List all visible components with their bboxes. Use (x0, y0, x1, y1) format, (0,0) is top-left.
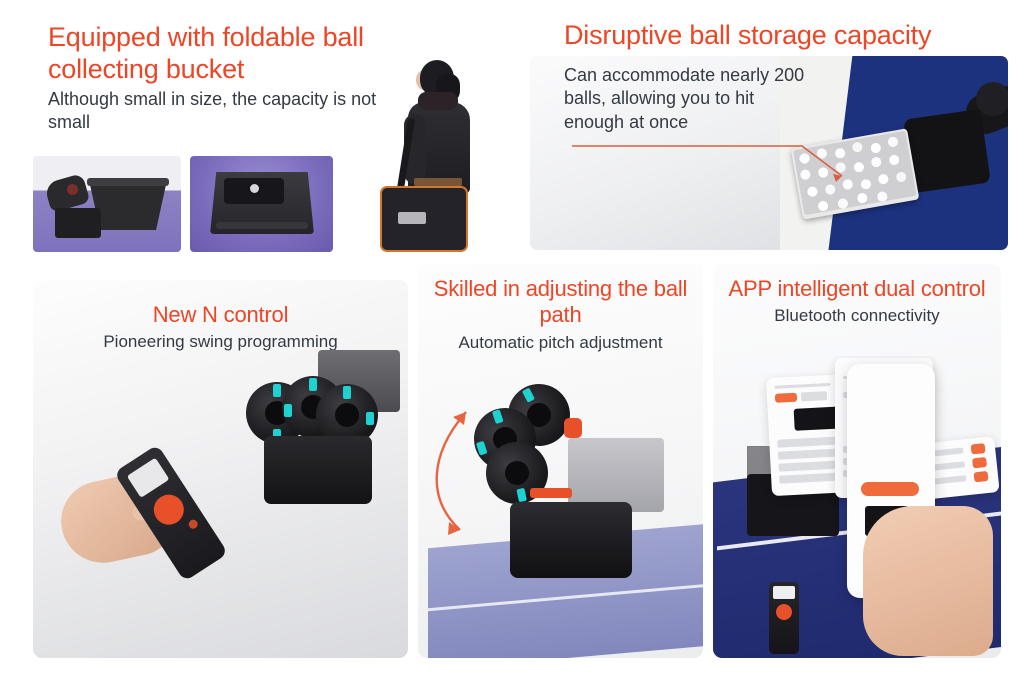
ballpath-heading: Skilled in adjusting the ball path (418, 276, 703, 329)
foldable-photo-strip (33, 156, 333, 252)
ball-hopper-photo (780, 56, 1008, 250)
app-header: APP intelligent dual control Bluetooth c… (713, 276, 1001, 327)
ncontrol-header: New N control Pioneering swing programmi… (33, 302, 408, 353)
hand-using-phone (863, 506, 993, 656)
foldable-heading: Equipped with foldable ball collecting b… (48, 22, 408, 86)
storage-heading: Disruptive ball storage capacity (564, 20, 994, 52)
app-control-photo (713, 356, 1001, 658)
panel-app-control: APP intelligent dual control Bluetooth c… (713, 264, 1001, 658)
ballpath-header: Skilled in adjusting the ball path Autom… (418, 276, 703, 354)
person-carrying-bag-photo (358, 56, 508, 252)
panel-ball-storage: Disruptive ball storage capacity Can acc… (512, 0, 1024, 262)
panel-foldable-bucket: Equipped with foldable ball collecting b… (0, 0, 512, 262)
app-heading: APP intelligent dual control (713, 276, 1001, 302)
ncontrol-heading: New N control (33, 302, 408, 328)
folded-bag-photo (190, 156, 333, 252)
panel-new-n-control: New N control Pioneering swing programmi… (33, 280, 408, 658)
pitch-adjust-arrow-icon (418, 360, 703, 658)
bucket-on-table-photo (33, 156, 181, 252)
app-subtitle: Bluetooth connectivity (713, 305, 1001, 327)
storage-subtitle: Can accommodate nearly 200 balls, allowi… (564, 64, 814, 134)
panel-ball-path: Skilled in adjusting the ball path Autom… (418, 264, 703, 658)
pitch-angle-photo (418, 360, 703, 658)
ballpath-subtitle: Automatic pitch adjustment (418, 332, 703, 354)
app-remote-control (769, 582, 799, 654)
foldable-subtitle: Although small in size, the capacity is … (48, 88, 378, 135)
ball-machine-image (238, 350, 403, 510)
product-feature-sheet: Equipped with foldable ball collecting b… (0, 0, 1024, 689)
